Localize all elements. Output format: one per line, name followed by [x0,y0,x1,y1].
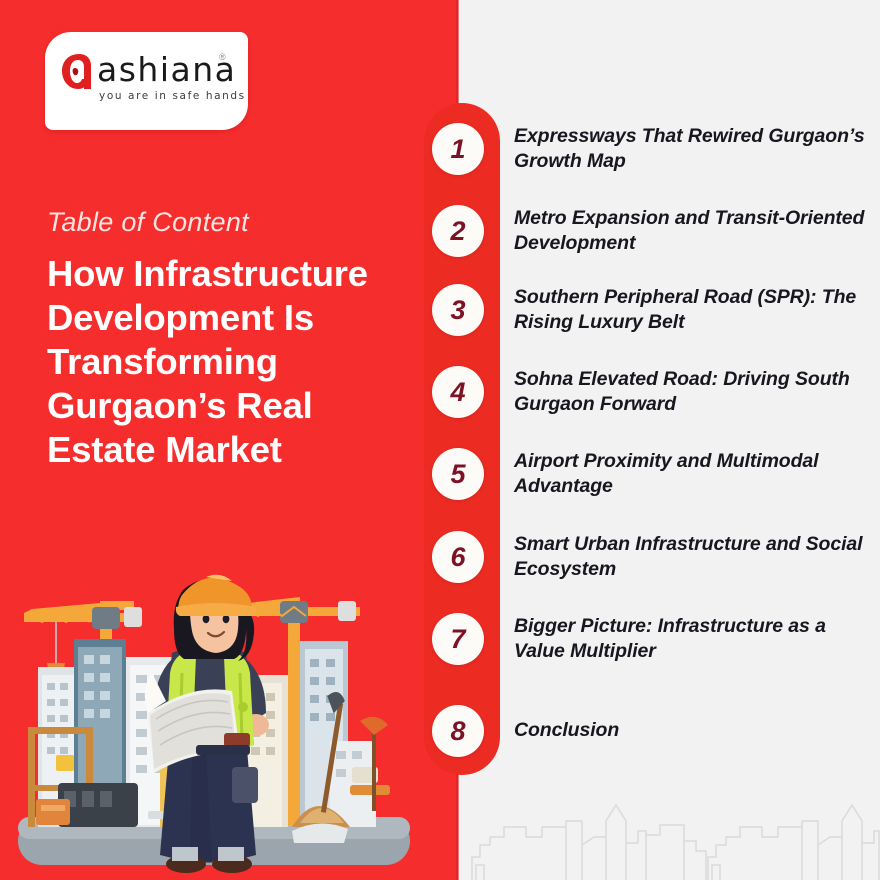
toc-item-label: Southern Peripheral Road (SPR): The Risi… [514,285,874,336]
brand-logo-wordmark: ashiana [97,50,236,90]
toc-item-label: Metro Expansion and Transit-Oriented Dev… [514,206,874,257]
toc-item-label: Smart Urban Infrastructure and Social Ec… [514,532,874,583]
toc-item-number-3: 3 [432,284,484,336]
construction-worker-cityscape-illustration [0,555,440,880]
toc-item-number-4: 4 [432,366,484,418]
toc-item[interactable]: 4Sohna Elevated Road: Driving South Gurg… [424,364,880,420]
toc-item[interactable]: 5Airport Proximity and Multimodal Advant… [424,446,880,502]
toc-item[interactable]: 2Metro Expansion and Transit-Oriented De… [424,203,880,259]
toc-item[interactable]: 6Smart Urban Infrastructure and Social E… [424,529,880,585]
toc-item-label: Bigger Picture: Infrastructure as a Valu… [514,614,874,665]
toc-item-label: Expressways That Rewired Gurgaon’s Growt… [514,124,874,175]
ashiana-a-mark-icon [59,52,93,92]
toc-item-number-2: 2 [432,205,484,257]
toc-item[interactable]: 1Expressways That Rewired Gurgaon’s Grow… [424,121,880,177]
brand-logo-card[interactable]: ashiana ® you are in safe hands [45,32,248,130]
brand-tagline: you are in safe hands [99,90,246,102]
registered-trademark-icon: ® [219,52,226,62]
toc-item-label: Conclusion [514,718,874,744]
infographic-poster: ashiana ® you are in safe hands Table of… [0,0,880,880]
brand-logo: ashiana ® you are in safe hands [59,50,235,112]
toc-item-number-1: 1 [432,123,484,175]
section-kicker: Table of Content [47,207,249,238]
toc-item[interactable]: 3Southern Peripheral Road (SPR): The Ris… [424,282,880,338]
toc-item[interactable]: 8Conclusion [424,703,880,759]
table-of-contents-list: 1Expressways That Rewired Gurgaon’s Grow… [424,103,880,803]
toc-item-label: Sohna Elevated Road: Driving South Gurga… [514,367,874,418]
page-title: How Infrastructure Development Is Transf… [47,252,377,472]
toc-item-label: Airport Proximity and Multimodal Advanta… [514,449,874,500]
toc-item[interactable]: 7Bigger Picture: Infrastructure as a Val… [424,611,880,667]
toc-item-number-5: 5 [432,448,484,500]
